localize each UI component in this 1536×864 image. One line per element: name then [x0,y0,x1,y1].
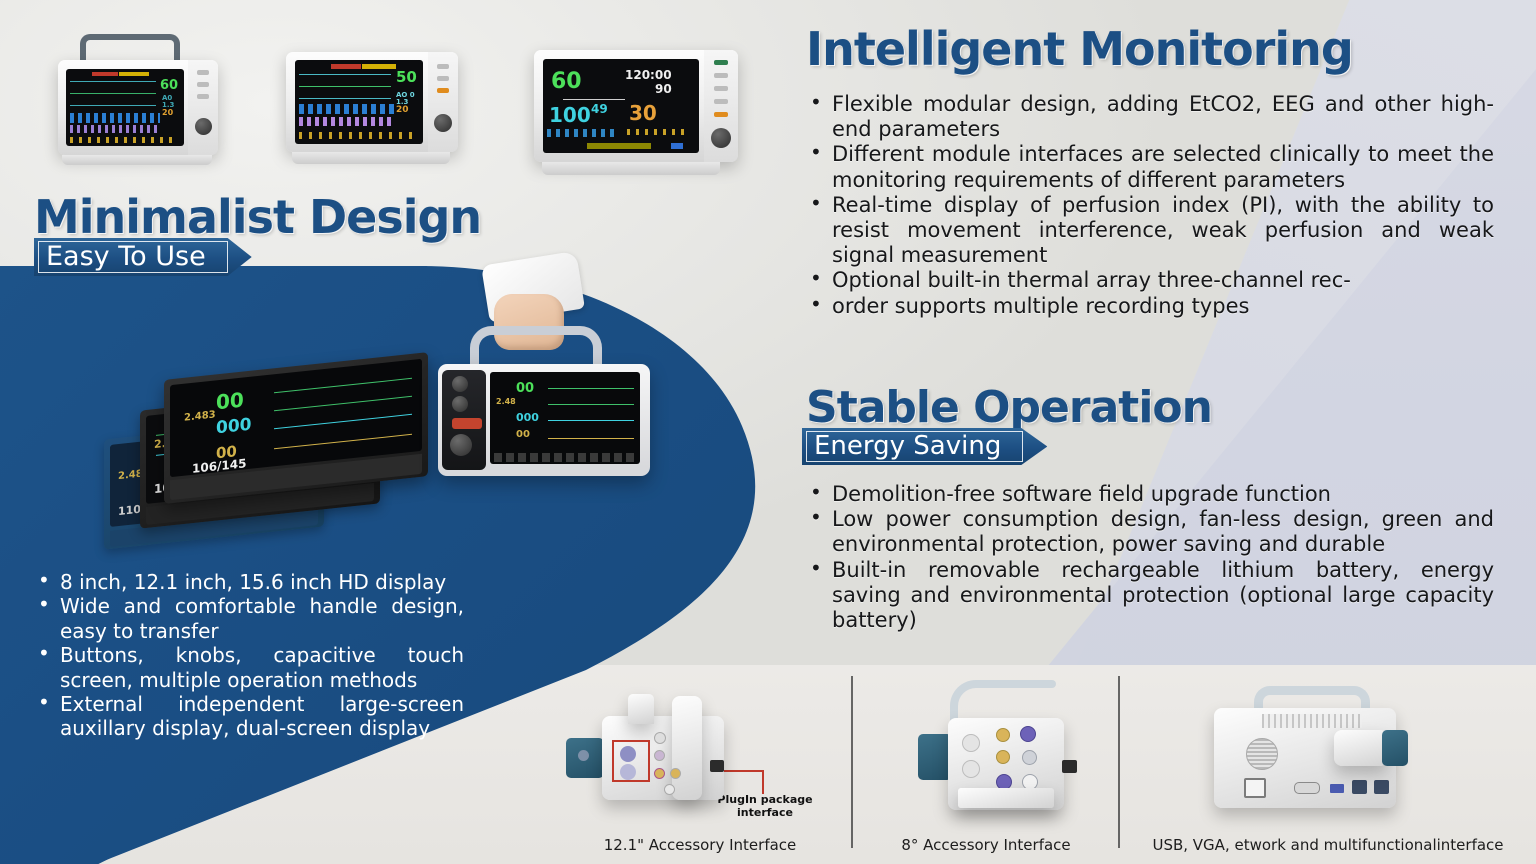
monitor-resp-value: 30 [629,103,657,123]
cable-stub [1062,760,1077,773]
monitor-hr-value: 60 [551,71,582,93]
monitor-side-button [714,112,728,117]
module-bay [1334,730,1388,766]
port-socket [654,768,665,779]
ribbon-easy-to-use: Easy To Use [34,238,252,276]
monitor-knob [434,114,452,132]
device-handle-tab [628,694,654,724]
product-photo-accessory-8inch [918,680,1128,812]
monitor-side-panel [704,50,738,162]
blank-slot [962,760,980,778]
port-socket [654,750,665,761]
product-photo-monitor-small: 60 A0 1.3 20 [58,60,218,155]
port-socket [664,784,675,795]
caption-usb-vga: USB, VGA, etwork and multifunctionalinte… [1128,836,1528,854]
monitor-side-button [714,60,728,65]
handheld-alarm-button [452,418,482,429]
page-title-stable-operation: Stable Operation [806,382,1212,433]
handheld-dial [450,434,472,456]
stack-art-value: 2.483 [184,410,216,423]
ribbon-label: Energy Saving [814,431,1001,461]
monitor-base [62,155,212,165]
monitor-side-panel [188,60,218,155]
caption-8inch: 8° Accessory Interface [862,836,1110,854]
monitor-side-panel [428,52,458,152]
module-connector [918,734,952,780]
monitor-side-button [437,64,449,69]
monitor-screen: 60 A0 1.3 20 [66,69,184,146]
cable-stub [710,760,724,772]
page-title-minimalist: Minimalist Design [34,190,481,244]
list-item: Demolition-free software field upgrade f… [806,482,1494,507]
module-slot [620,746,636,762]
list-item: 8 inch, 12.1 inch, 15.6 inch HD display [34,570,464,594]
aux-port [1374,780,1389,794]
device-drawer [958,788,1054,808]
port-socket [654,732,666,744]
monitor-side-button [197,70,209,75]
handheld-button-panel [442,370,486,470]
caption-12inch: 12.1" Accessory Interface [560,836,840,854]
vga-port [1294,782,1320,794]
list-item: Real-time display of perfusion index (PI… [806,193,1494,269]
product-photo-monitor-medium: 50 AO 0 1.3 20 [286,52,458,152]
monitor-knob [195,118,212,135]
monitor-timer-value: 120:00 [625,69,672,81]
monitor-hr-value: 50 [396,70,417,85]
monitor-pi-value: 49 [591,103,608,115]
port-socket [996,750,1010,764]
left-bullet-list: 8 inch, 12.1 inch, 15.6 inch HD display … [34,570,464,741]
list-item: order supports multiple recording types [806,294,1494,319]
stack-spo2-value: 000 [216,417,252,438]
list-item: Different module interfaces are selected… [806,142,1494,192]
monitor-base [292,152,450,164]
vent-grille [1262,714,1362,728]
stack-hr-value: 00 [216,389,244,412]
monitor-screen: 50 AO 0 1.3 20 [295,60,423,144]
list-item: Flexible modular design, adding EtCO2, E… [806,92,1494,142]
product-photo-handheld-monitor: 00 2.48 000 00 [430,258,660,508]
handheld-button [452,376,468,392]
monitor-side-button [714,99,728,104]
usb-port [1330,784,1344,793]
page-title-intelligent-monitoring: Intelligent Monitoring [806,22,1353,76]
port-socket [670,768,681,779]
list-item: External independent large-screen auxill… [34,692,464,741]
intelligent-monitoring-bullet-list: Flexible modular design, adding EtCO2, E… [806,92,1494,319]
module-slot [620,764,636,780]
port-socket [1022,750,1037,765]
module-connector [1382,730,1408,766]
port-socket [996,728,1010,742]
stable-operation-bullet-list: Demolition-free software field upgrade f… [806,482,1494,633]
list-item: Low power consumption design, fan-less d… [806,507,1494,557]
monitor-spo2-value: 100 [549,105,591,125]
monitor-side-button [437,88,449,93]
monitor-hr-value: 60 [160,79,178,92]
monitor-side-button [714,86,728,91]
monitor-knob [711,128,731,148]
network-port [1352,780,1367,794]
product-photo-monitor-large: 60 120:00 90 100 49 30 [534,50,738,162]
handheld-screen: 00 2.48 000 00 [490,372,640,464]
ethernet-port [1244,778,1266,798]
list-item: Built-in removable rechargeable lithium … [806,558,1494,634]
product-photo-rear-panel [1210,686,1454,814]
speaker-grille [1246,738,1278,770]
monitor-side-button [197,94,209,99]
ribbon-label: Easy To Use [46,241,206,272]
slide-canvas: 60 A0 1.3 20 50 AO 0 1.3 [0,0,1536,864]
monitor-screen: 60 120:00 90 100 49 30 [543,59,699,153]
port-socket [1020,726,1036,742]
device-side-panel [672,696,702,800]
monitor-nibp-value: AO 0 1.3 [396,92,423,106]
list-item: Buttons, knobs, capacitive touch screen,… [34,643,464,692]
list-item: Wide and comfortable handle design, easy… [34,594,464,643]
handheld-button [452,396,468,412]
monitor-secondary-value: 90 [655,83,672,95]
monitor-side-button [714,73,728,78]
blank-slot [962,734,980,752]
product-photo-accessory-12inch [560,690,810,810]
monitor-side-button [197,82,209,87]
monitor-side-button [437,76,449,81]
monitor-value: 20 [396,106,409,115]
stack-lower-value: 110 [118,504,141,517]
connector-dot [578,750,589,761]
list-item: Optional built-in thermal array three-ch… [806,268,1494,293]
divider [851,676,853,848]
handheld-body: 00 2.48 000 00 [438,364,650,476]
ribbon-energy-saving: Energy Saving [802,428,1047,465]
monitor-base [542,162,720,175]
